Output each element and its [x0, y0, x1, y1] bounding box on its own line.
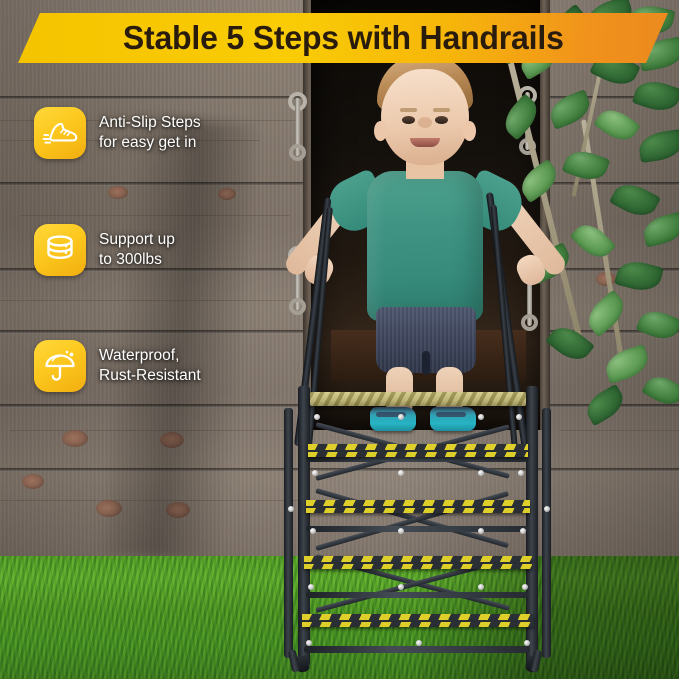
child-shorts-split	[422, 351, 430, 375]
stool-top-platform	[310, 392, 526, 406]
product-marketing-image: Stable 5 Steps with Handrails Anti-Slip …	[0, 0, 679, 679]
wood-knot	[22, 474, 44, 489]
step-stool-product	[276, 378, 561, 673]
wood-knot	[108, 186, 128, 199]
umbrella-icon	[34, 340, 86, 392]
feature-line-2: Rust-Resistant	[99, 366, 201, 386]
feature-anti-slip-text: Anti-Slip Steps for easy get in	[99, 113, 201, 154]
feature-line-1: Support up	[99, 230, 175, 250]
stool-step-1	[302, 614, 534, 627]
feature-line-2: to 300lbs	[99, 250, 175, 270]
headline-text: Stable 5 Steps with Handrails	[123, 19, 564, 57]
stool-step-4	[308, 444, 528, 457]
stool-leg-right-outer	[542, 408, 551, 658]
wood-knot	[62, 430, 88, 447]
feature-weight-capacity: Support up to 300lbs	[34, 224, 175, 276]
stool-step-3	[306, 500, 530, 513]
child-shirt	[367, 171, 483, 321]
feature-waterproof-text: Waterproof, Rust-Resistant	[99, 346, 201, 387]
sneaker-icon	[34, 107, 86, 159]
stool-step-2	[304, 556, 532, 569]
feature-line-2: for easy get in	[99, 133, 201, 153]
feature-weight-text: Support up to 300lbs	[99, 230, 175, 271]
headline-banner: Stable 5 Steps with Handrails	[18, 13, 668, 63]
child-nose	[418, 117, 432, 128]
stool-leg-left-outer	[284, 408, 293, 658]
door-latch-icon	[288, 98, 308, 162]
feature-anti-slip: Anti-Slip Steps for easy get in	[34, 107, 201, 159]
child-standing	[318, 55, 533, 400]
child-mouth	[410, 138, 440, 147]
feature-line-1: Waterproof,	[99, 346, 201, 366]
feature-waterproof: Waterproof, Rust-Resistant	[34, 340, 201, 392]
stacked-discs-icon	[34, 224, 86, 276]
feature-line-1: Anti-Slip Steps	[99, 113, 201, 133]
